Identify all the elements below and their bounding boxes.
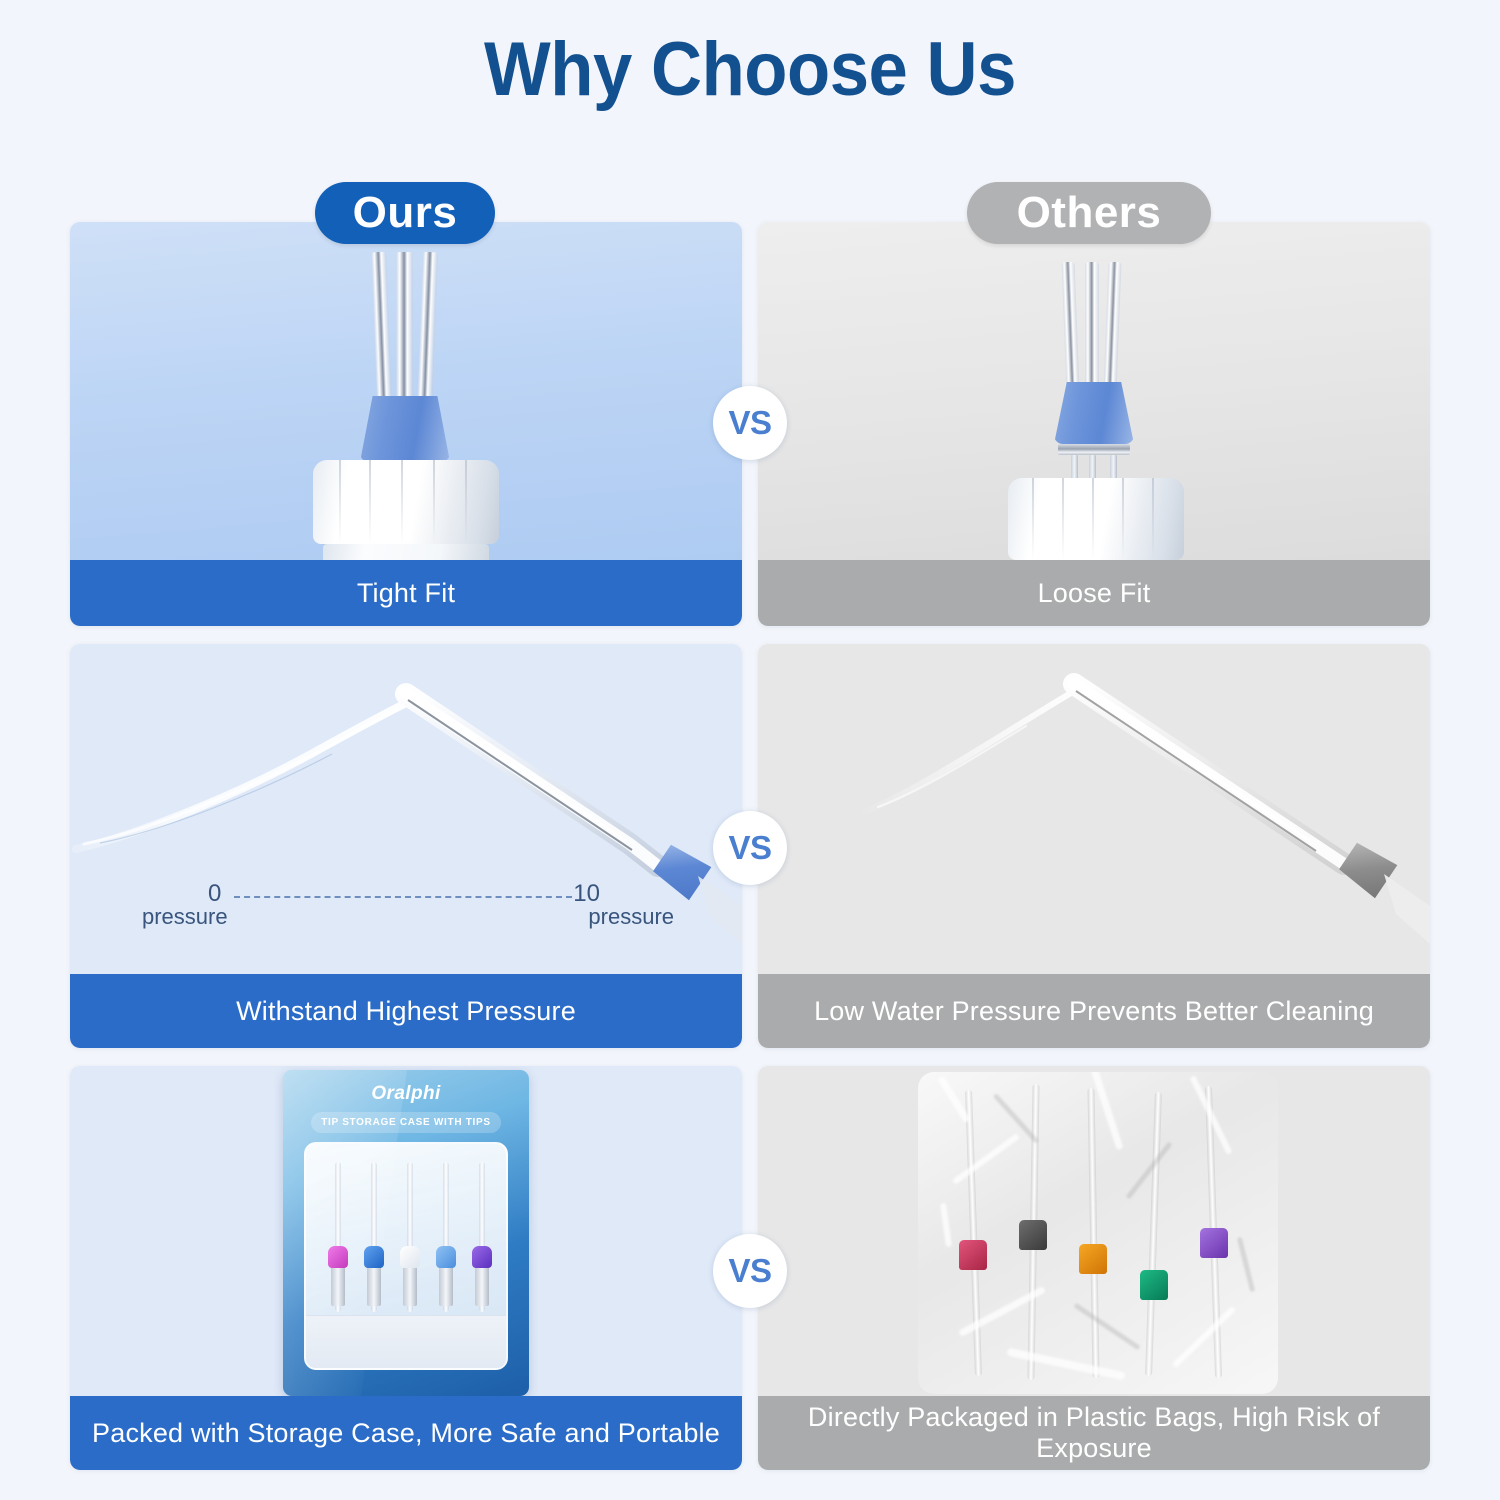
image-others-plastic-bag [758, 1066, 1430, 1396]
product-package: Oralphi TIP STORAGE CASE WITH TIPS [283, 1070, 529, 1396]
comparison-infographic: Why Choose Us Ours Others [0, 0, 1500, 1500]
header-pill-others-label: Others [1017, 188, 1162, 238]
bag-tip-3 [1079, 1244, 1107, 1274]
page-title: Why Choose Us [53, 26, 1448, 113]
package-sub-label: TIP STORAGE CASE WITH TIPS [311, 1112, 501, 1133]
flosser-tip-loose-illustration [758, 222, 1430, 560]
gauge-dashed-line [234, 896, 572, 898]
image-ours-storage-case: Oralphi TIP STORAGE CASE WITH TIPS [70, 1066, 742, 1396]
image-ours-tight-fit [70, 222, 742, 560]
image-ours-pressure: 0 pressure 10 pressure [70, 644, 742, 974]
pressure-gauge-ours: 0 pressure 10 pressure [130, 882, 682, 934]
caption-ours-storage-case: Packed with Storage Case, More Safe and … [70, 1396, 742, 1470]
caption-others-loose-fit: Loose Fit [758, 560, 1430, 626]
bag-tip-2 [1019, 1220, 1047, 1250]
vs-badge-row-2-label: VS [728, 829, 771, 867]
vs-badge-row-2: VS [713, 811, 787, 885]
image-others-pressure [758, 644, 1430, 974]
caption-ours-pressure: Withstand Highest Pressure [70, 974, 742, 1048]
image-others-loose-fit [758, 222, 1430, 560]
panel-ours-storage-case: Oralphi TIP STORAGE CASE WITH TIPS [70, 1066, 742, 1470]
caption-others-pressure: Low Water Pressure Prevents Better Clean… [758, 974, 1430, 1048]
vs-badge-row-3-label: VS [728, 1252, 771, 1290]
header-pill-ours: Ours [315, 182, 495, 244]
header-pill-ours-label: Ours [353, 188, 458, 238]
caption-others-plastic-bag: Directly Packaged in Plastic Bags, High … [758, 1396, 1430, 1470]
vs-badge-row-1: VS [713, 386, 787, 460]
vs-badge-row-3: VS [713, 1234, 787, 1308]
caption-ours-tight-fit: Tight Fit [70, 560, 742, 626]
vs-badge-row-1-label: VS [728, 404, 771, 442]
storage-case-tray [304, 1142, 508, 1370]
bag-tip-5 [1200, 1228, 1228, 1258]
nozzle-weak-jet-illustration [758, 644, 1430, 974]
panel-others-plastic-bag: Directly Packaged in Plastic Bags, High … [758, 1066, 1430, 1470]
panel-ours-tight-fit: Tight Fit [70, 222, 742, 626]
panel-others-loose-fit: Loose Fit [758, 222, 1430, 626]
gauge-max-label: pressure [588, 904, 674, 930]
gauge-min-label: pressure [142, 904, 228, 930]
panel-ours-pressure: 0 pressure 10 pressure Withstand Highest… [70, 644, 742, 1048]
brand-name: Oralphi [283, 1083, 529, 1105]
flosser-tip-tight-illustration [70, 222, 742, 560]
storage-case-lid [306, 1315, 506, 1368]
bag-tip-1 [959, 1240, 987, 1270]
panel-others-pressure: Low Water Pressure Prevents Better Clean… [758, 644, 1430, 1048]
header-pill-others: Others [967, 182, 1211, 244]
plastic-bag [918, 1072, 1278, 1394]
bag-tip-4 [1140, 1270, 1168, 1300]
